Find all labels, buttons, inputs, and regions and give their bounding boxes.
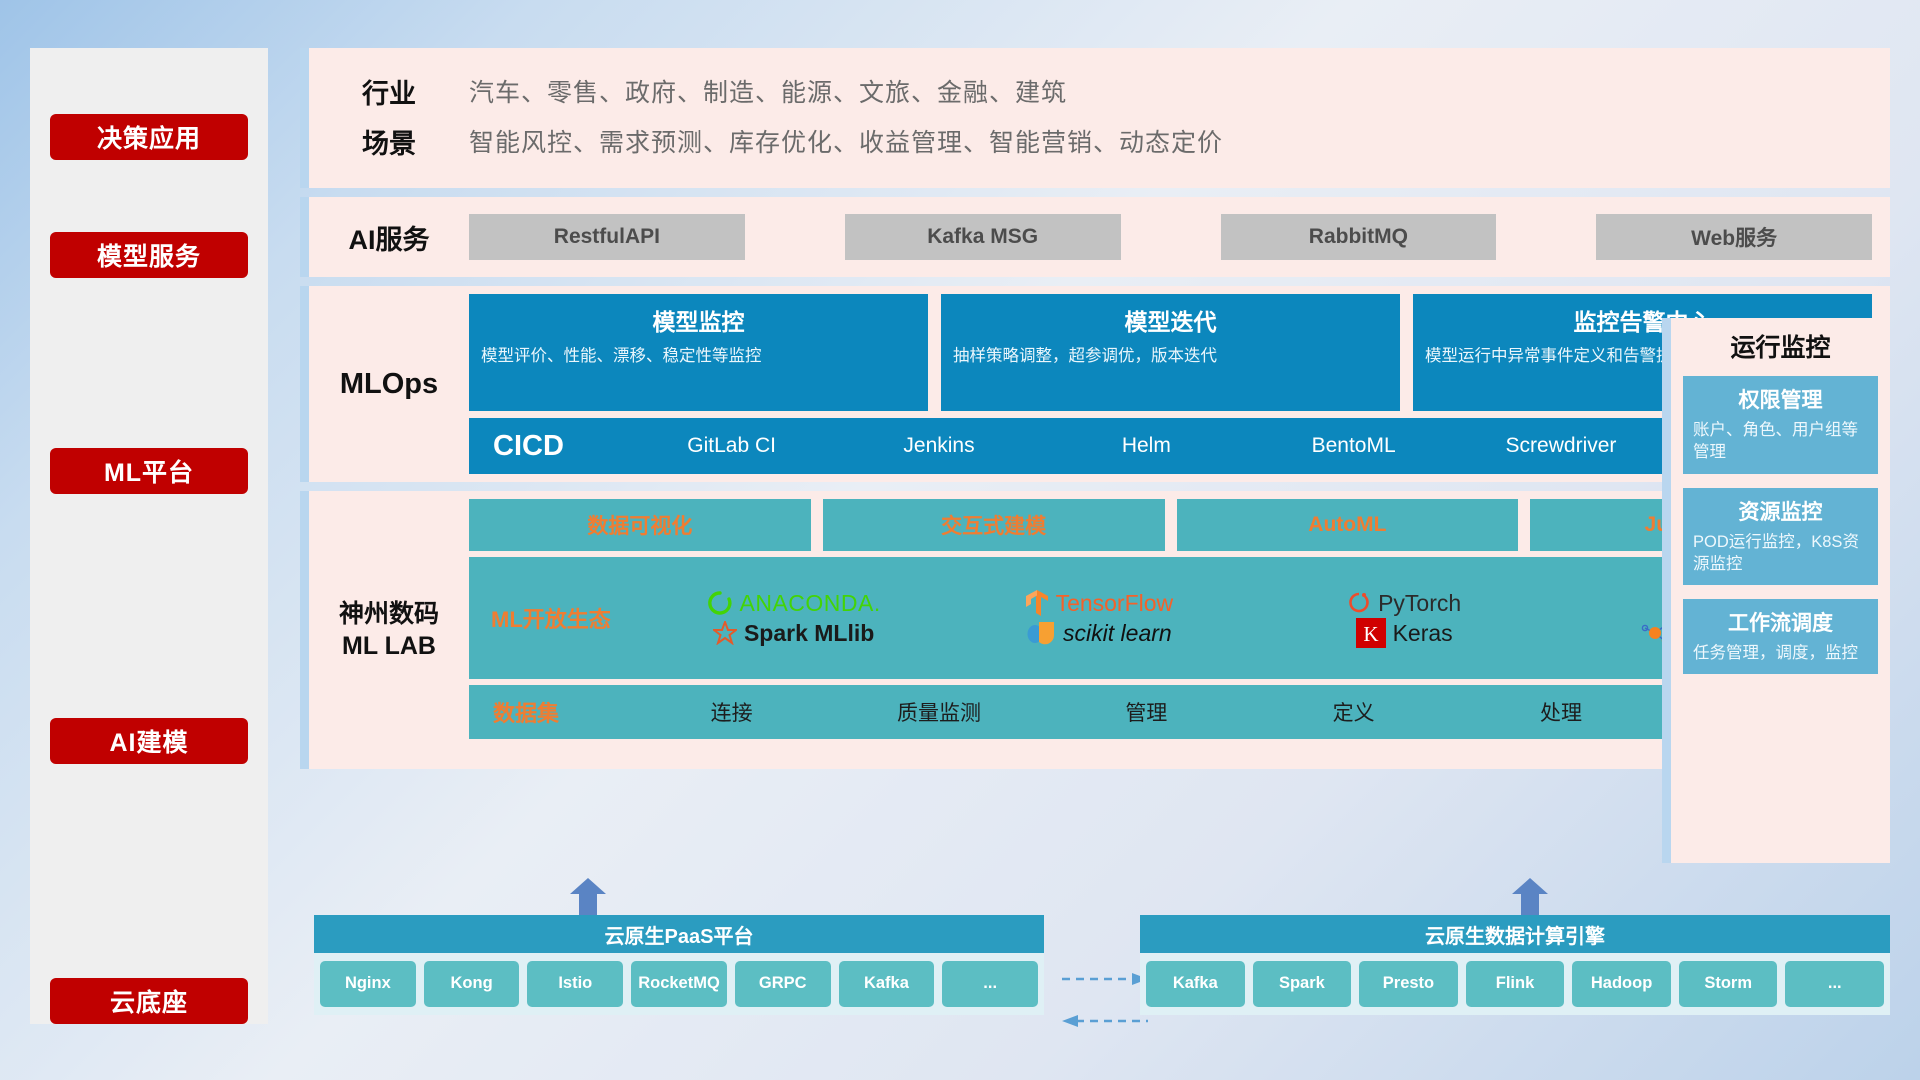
industry-label: 行业 [309, 72, 469, 111]
cloud-data-engine-title: 云原生数据计算引擎 [1140, 915, 1890, 953]
ml-lab-title-line2: ML LAB [342, 630, 436, 663]
chip-more-right[interactable]: ... [1785, 961, 1884, 1007]
chip-flink[interactable]: Flink [1466, 961, 1565, 1007]
bidirectional-dashed-arrows-icon [1060, 965, 1150, 1037]
tensorflow-icon [1025, 589, 1049, 617]
card-desc: 抽样策略调整，超参调优，版本迭代 [953, 345, 1388, 367]
ai-service-band: AI服务 RestfulAPI Kafka MSG RabbitMQ Web服务 [300, 197, 1890, 277]
chip-presto[interactable]: Presto [1359, 961, 1458, 1007]
sidebar-title: 运行监控 [1683, 328, 1878, 364]
chip-istio[interactable]: Istio [527, 961, 623, 1007]
cicd-item-helm[interactable]: Helm [1043, 435, 1250, 457]
cloud-paas-chip-list: Nginx Kong Istio RocketMQ GRPC Kafka ... [314, 953, 1044, 1015]
anaconda-logo: ANACONDA. [641, 590, 946, 617]
card-title: 工作流调度 [1693, 607, 1868, 637]
rail-item-ai-modeling[interactable]: AI建模 [50, 718, 248, 764]
dataset-item-quality-monitoring[interactable]: 质量监测 [835, 697, 1042, 727]
chip-kafka-right[interactable]: Kafka [1146, 961, 1245, 1007]
ml-lab-title: 神州数码 ML LAB [309, 491, 469, 769]
chip-spark[interactable]: Spark [1253, 961, 1352, 1007]
card-desc: 模型评价、性能、漂移、稳定性等监控 [481, 345, 916, 367]
card-desc: 任务管理，调度，监控 [1693, 642, 1868, 664]
spark-mllib-label: Spark MLlib [744, 620, 874, 647]
spark-mllib-logo: Spark MLlib [641, 620, 946, 647]
cloud-paas-title: 云原生PaaS平台 [314, 915, 1044, 953]
ai-service-title: AI服务 [309, 218, 469, 257]
chip-storm[interactable]: Storm [1679, 961, 1778, 1007]
card-desc: 账户、角色、用户组等管理 [1693, 419, 1868, 464]
left-rail: 决策应用 模型服务 ML平台 AI建模 云底座 [30, 48, 268, 1024]
rail-item-cloud-base[interactable]: 云底座 [50, 978, 248, 1024]
tab-interactive-modeling[interactable]: 交互式建模 [823, 499, 1165, 551]
chip-kong[interactable]: Kong [424, 961, 520, 1007]
card-title: 权限管理 [1693, 384, 1868, 414]
card-title: 资源监控 [1693, 496, 1868, 526]
service-web[interactable]: Web服务 [1596, 214, 1872, 260]
runtime-monitoring-sidebar: 运行监控 权限管理 账户、角色、用户组等管理 资源监控 POD运行监控，K8S资… [1662, 318, 1890, 863]
pytorch-icon [1347, 590, 1371, 616]
cloud-foundation-section: 云原生PaaS平台 Nginx Kong Istio RocketMQ GRPC… [300, 880, 1890, 1055]
ml-lab-band: 神州数码 ML LAB 数据可视化 交互式建模 AutoML JupyterLa… [300, 491, 1890, 769]
pytorch-logo: PyTorch [1252, 590, 1557, 617]
monitor-card-workflow[interactable]: 工作流调度 任务管理，调度，监控 [1683, 599, 1878, 674]
tab-data-visualization[interactable]: 数据可视化 [469, 499, 811, 551]
cicd-item-jenkins[interactable]: Jenkins [835, 435, 1042, 457]
eco-label: ML开放生态 [491, 602, 641, 634]
up-arrow-icon-right [1510, 878, 1550, 916]
keras-logo: K Keras [1252, 618, 1557, 648]
monitor-card-permission[interactable]: 权限管理 账户、角色、用户组等管理 [1683, 376, 1878, 474]
rail-item-model-service[interactable]: 模型服务 [50, 232, 248, 278]
industry-scenario-band: 行业 汽车、零售、政府、制造、能源、文旅、金融、建筑 场景 智能风控、需求预测、… [300, 48, 1890, 188]
pytorch-label: PyTorch [1378, 590, 1461, 617]
dataset-item-definition[interactable]: 定义 [1250, 697, 1457, 727]
card-title: 模型迭代 [953, 303, 1388, 337]
chip-grpc[interactable]: GRPC [735, 961, 831, 1007]
dataset-label: 数据集 [493, 696, 628, 728]
mlops-band: MLOps 模型监控 模型评价、性能、漂移、稳定性等监控 模型迭代 抽样策略调整… [300, 286, 1890, 482]
anaconda-label: ANACONDA. [740, 590, 881, 617]
cloud-data-engine-chip-list: Kafka Spark Presto Flink Hadoop Storm ..… [1140, 953, 1890, 1015]
keras-label: Keras [1393, 620, 1453, 647]
card-desc: POD运行监控，K8S资源监控 [1693, 531, 1868, 576]
dataset-item-processing[interactable]: 处理 [1457, 697, 1664, 727]
anaconda-icon [707, 590, 733, 616]
service-rabbitmq[interactable]: RabbitMQ [1221, 214, 1497, 260]
svg-text:K: K [1363, 622, 1378, 646]
tensorflow-label: TensorFlow [1056, 590, 1174, 617]
mlops-card-model-monitoring[interactable]: 模型监控 模型评价、性能、漂移、稳定性等监控 [469, 294, 928, 411]
scenario-row: 场景 智能风控、需求预测、库存优化、收益管理、智能营销、动态定价 [309, 116, 1890, 166]
cloud-data-engine-group: 云原生数据计算引擎 Kafka Spark Presto Flink Hadoo… [1140, 915, 1890, 1015]
tab-automl[interactable]: AutoML [1177, 499, 1519, 551]
industry-value: 汽车、零售、政府、制造、能源、文旅、金融、建筑 [469, 73, 1067, 109]
industry-row: 行业 汽车、零售、政府、制造、能源、文旅、金融、建筑 [309, 66, 1890, 116]
mlops-title: MLOps [309, 286, 469, 482]
cicd-item-screwdriver[interactable]: Screwdriver [1457, 435, 1664, 457]
cloud-paas-group: 云原生PaaS平台 Nginx Kong Istio RocketMQ GRPC… [314, 915, 1044, 1015]
card-title: 模型监控 [481, 303, 916, 337]
up-arrow-icon-left [568, 878, 608, 916]
rail-item-ml-platform[interactable]: ML平台 [50, 448, 248, 494]
mlops-card-model-iteration[interactable]: 模型迭代 抽样策略调整，超参调优，版本迭代 [941, 294, 1400, 411]
main-column: 行业 汽车、零售、政府、制造、能源、文旅、金融、建筑 场景 智能风控、需求预测、… [300, 48, 1890, 778]
service-kafka-msg[interactable]: Kafka MSG [845, 214, 1121, 260]
service-restfulapi[interactable]: RestfulAPI [469, 214, 745, 260]
monitor-card-resource[interactable]: 资源监控 POD运行监控，K8S资源监控 [1683, 488, 1878, 586]
chip-nginx[interactable]: Nginx [320, 961, 416, 1007]
dataset-item-connect[interactable]: 连接 [628, 697, 835, 727]
scikit-learn-logo: scikit learn [946, 619, 1251, 647]
scenario-label: 场景 [309, 122, 469, 161]
chip-kafka[interactable]: Kafka [839, 961, 935, 1007]
chip-more-left[interactable]: ... [942, 961, 1038, 1007]
chip-rocketmq[interactable]: RocketMQ [631, 961, 727, 1007]
scikit-learn-icon [1026, 619, 1056, 647]
cicd-item-gitlab-ci[interactable]: GitLab CI [628, 435, 835, 457]
cicd-item-bentoml[interactable]: BentoML [1250, 435, 1457, 457]
cicd-label: CICD [493, 430, 628, 463]
scikit-learn-label: scikit learn [1063, 620, 1172, 647]
dataset-item-management[interactable]: 管理 [1043, 697, 1250, 727]
chip-hadoop[interactable]: Hadoop [1572, 961, 1671, 1007]
ai-service-list: RestfulAPI Kafka MSG RabbitMQ Web服务 [469, 214, 1890, 260]
scenario-value: 智能风控、需求预测、库存优化、收益管理、智能营销、动态定价 [469, 123, 1223, 159]
rail-item-decision-app[interactable]: 决策应用 [50, 114, 248, 160]
ml-lab-title-line1: 神州数码 [339, 598, 439, 631]
spark-star-icon [713, 621, 737, 645]
keras-icon: K [1356, 618, 1386, 648]
tensorflow-logo: TensorFlow [946, 589, 1251, 617]
